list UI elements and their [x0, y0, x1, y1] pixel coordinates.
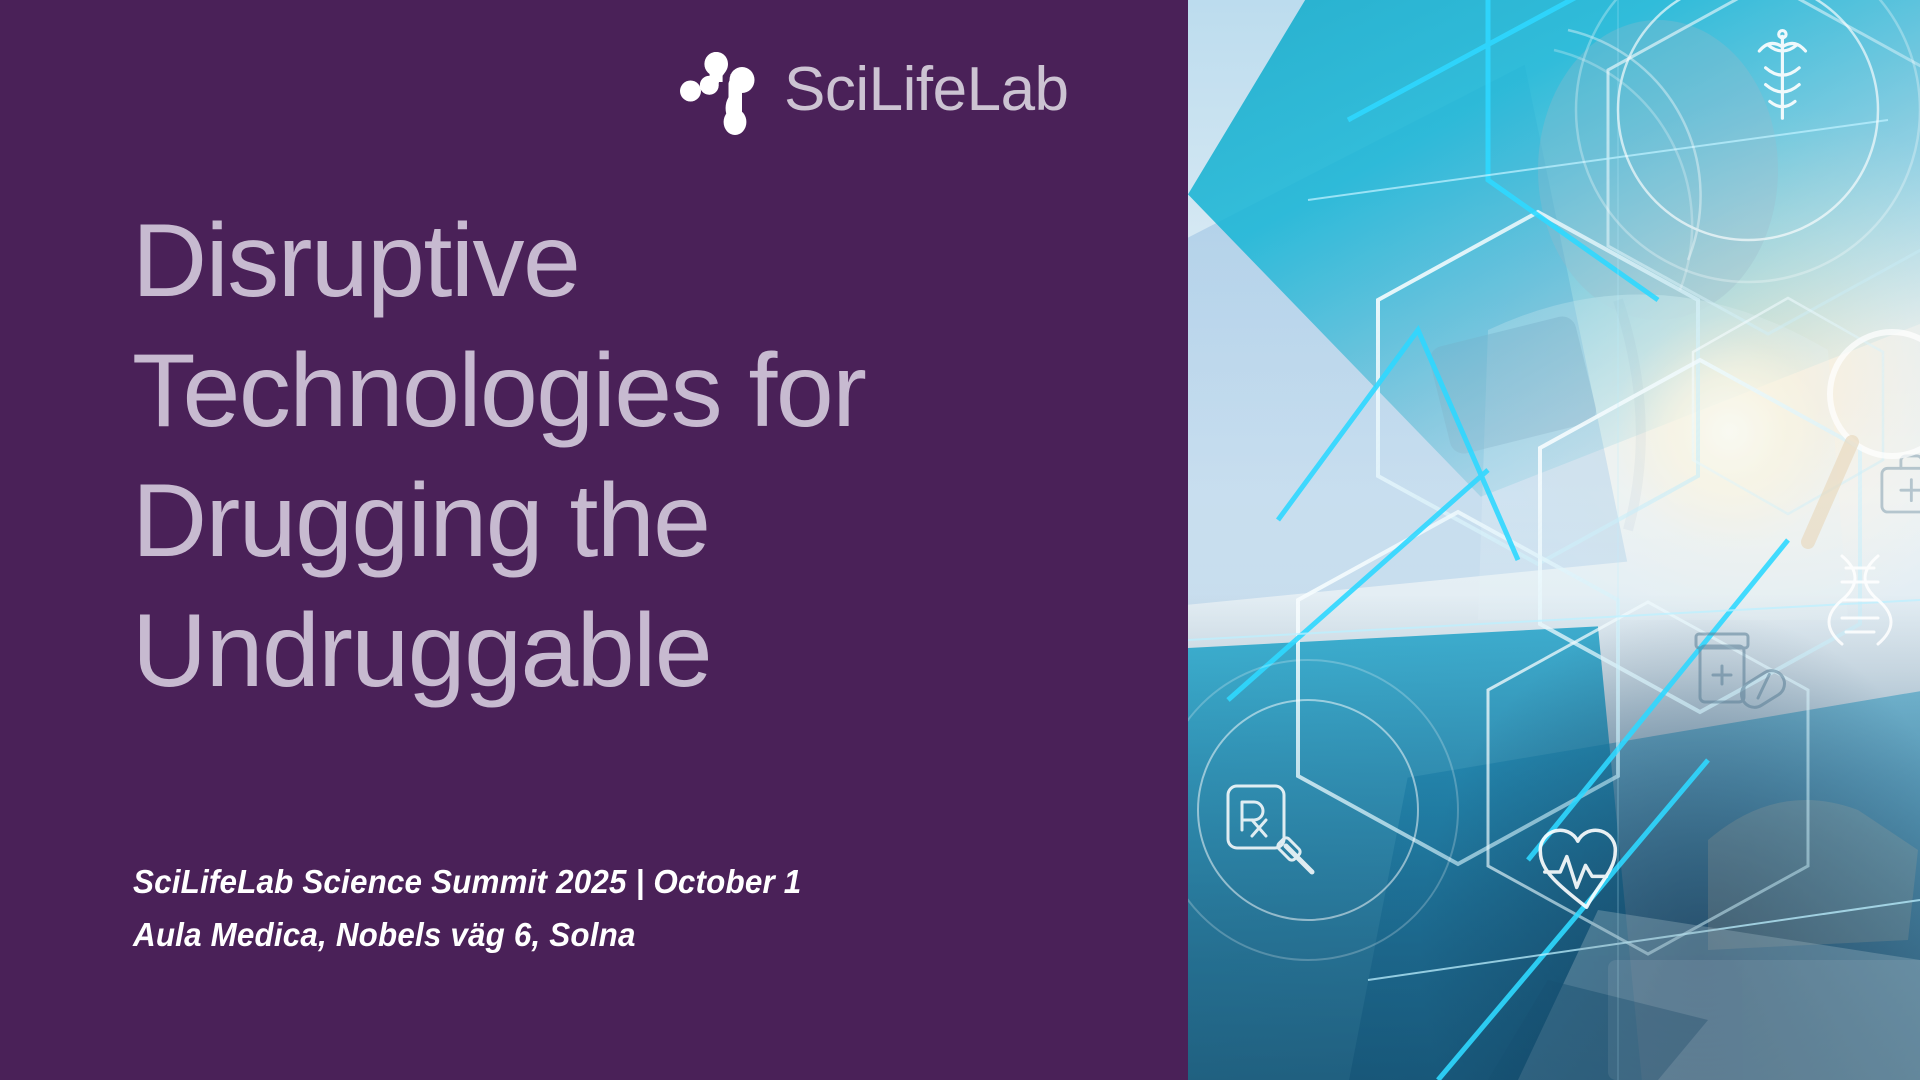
scilifelab-molecule-logo-icon: [680, 44, 760, 136]
event-name-date: SciLifeLab Science Summit 2025 | October…: [133, 855, 801, 908]
page-title: Disruptive Technologies for Drugging the…: [132, 196, 1132, 716]
scientist-silhouette: [1427, 20, 1920, 1080]
event-details: SciLifeLab Science Summit 2025 | October…: [133, 855, 837, 962]
caduceus-icon: [1759, 31, 1805, 119]
event-poster: SciLifeLab Disruptive Technologies for D…: [0, 0, 1920, 1080]
event-venue-address: Aula Medica, Nobels väg 6, Solna: [133, 908, 801, 961]
rx-prescription-icon: [1228, 786, 1312, 872]
first-aid-kit-icon: [1882, 456, 1920, 512]
title-line-1: Disruptive: [132, 196, 1132, 326]
poster-left-panel: SciLifeLab Disruptive Technologies for D…: [0, 0, 1188, 1080]
image-overlay-graphics: [1188, 0, 1920, 1080]
title-line-3: Drugging the: [132, 456, 1132, 586]
poster-image-panel: [1188, 0, 1920, 1080]
title-line-4: Undruggable: [132, 586, 1132, 716]
title-line-2: Technologies for: [132, 326, 1132, 456]
heartbeat-icon: [1540, 830, 1615, 907]
scilifelab-logo: SciLifeLab: [680, 44, 1069, 136]
scilifelab-wordmark: SciLifeLab: [784, 59, 1069, 121]
